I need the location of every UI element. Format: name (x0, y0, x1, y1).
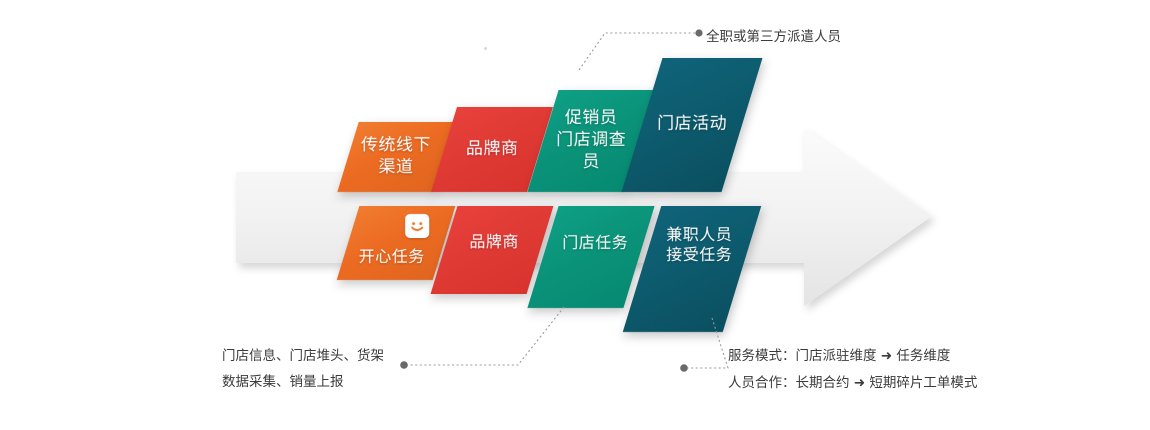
annotation-top-right: 全职或第三方派遣人员 (706, 24, 841, 50)
decorative-speck (484, 47, 487, 50)
step-label: 传统线下 渠道 (355, 135, 437, 179)
annotation-bottom-right-service-mode: 服务模式：门店派驻维度 ➜ 任务维度 (728, 343, 950, 369)
leader-line-bottom-right (676, 314, 736, 386)
step-label: 品牌商 (464, 232, 526, 252)
annotation-bottom-left: 门店信息、门店堆头、货架 数据采集、销量上报 (222, 343, 384, 396)
step-label: 促销员 门店调查员 (543, 108, 639, 173)
step-label: 门店任务 (556, 233, 634, 253)
annotation-bottom-right-staff-cooperation: 人员合作：长期合约 ➜ 短期碎片工单模式 (728, 370, 977, 396)
diagram-canvas: 传统线下 渠道 品牌商 促销员 门店调查员 门店活动 开心任务 品牌商 门店任务… (0, 0, 1150, 430)
step-label: 门店活动 (651, 114, 733, 136)
leader-line-bottom-left (398, 303, 568, 383)
smiley-icon (405, 214, 429, 238)
step-label: 兼职人员 接受任务 (660, 225, 738, 266)
step-label: 开心任务 (353, 247, 431, 267)
leader-line-top-right (575, 20, 705, 72)
step-label: 品牌商 (460, 139, 525, 161)
